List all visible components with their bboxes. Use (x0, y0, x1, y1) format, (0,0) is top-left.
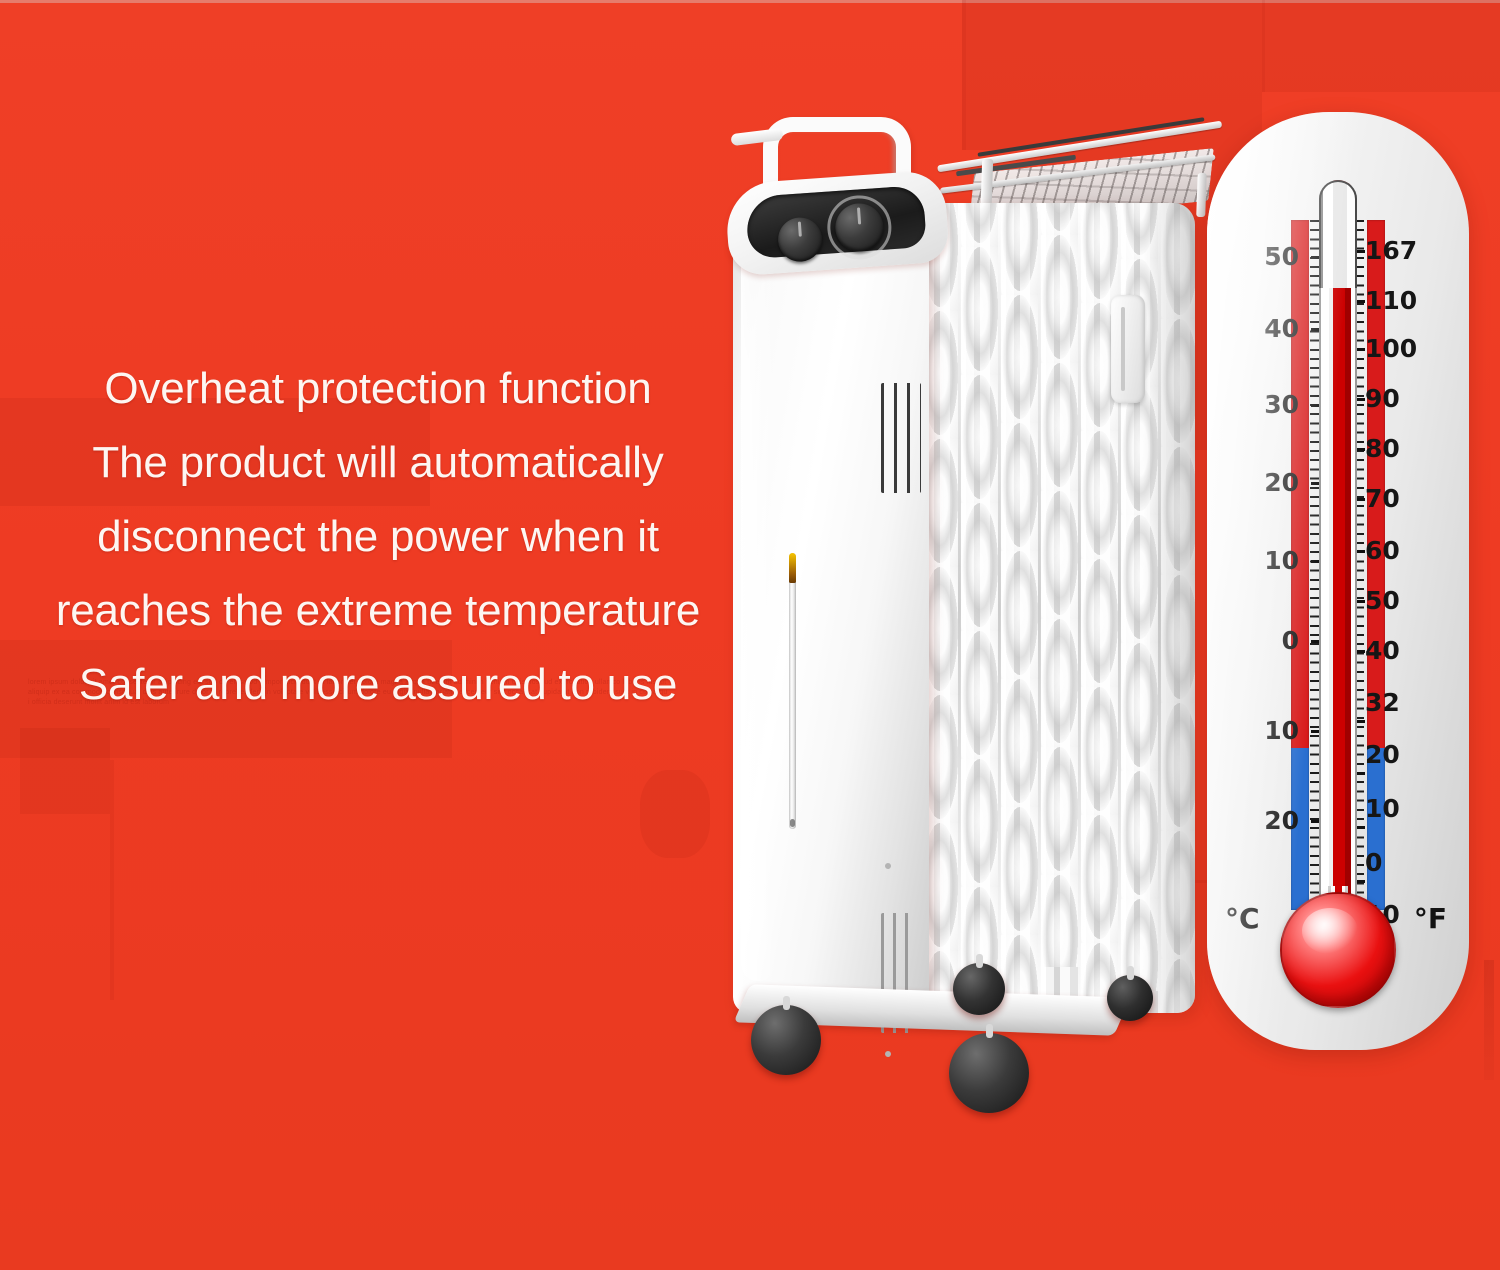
headline-line-2: The product will automatically (0, 426, 756, 500)
fahrenheit-label: 167 (1365, 238, 1439, 263)
caster-wheel (1107, 975, 1153, 1021)
wavy-oil-fin-stack (920, 203, 1195, 1013)
indicator-slot (789, 553, 796, 829)
fin-clip (1111, 295, 1145, 403)
bulb-highlight (1302, 908, 1358, 954)
fin-wave (960, 203, 1000, 979)
fin-seam (958, 203, 961, 1013)
headline-line-4: reaches the extreme temperature (0, 574, 756, 648)
control-deck (724, 169, 950, 276)
top-hairline (0, 0, 1500, 3)
bg-line (1262, 0, 1265, 92)
celsius-label: 10 (1239, 548, 1299, 573)
bg-blob (640, 770, 710, 858)
fahrenheit-label: 40 (1365, 638, 1439, 663)
headline-copy: Overheat protection function The product… (0, 352, 756, 722)
caster-wheel (949, 1033, 1029, 1113)
thermometer-scale-area: 50 40 30 20 10 0 10 20 167 110 100 (1207, 220, 1469, 910)
fahrenheit-label: 110 (1365, 288, 1439, 313)
capillary-tube (1319, 180, 1357, 950)
fin-shading (1143, 203, 1195, 1013)
celsius-label: 40 (1239, 316, 1299, 341)
fahrenheit-unit-label: °F (1414, 902, 1447, 935)
screw (885, 863, 891, 869)
fin-seam (1038, 203, 1041, 1013)
fin-seam (1078, 203, 1081, 1013)
fahrenheit-label: 10 (1365, 796, 1439, 821)
dual-scale-wall-thermometer: 50 40 30 20 10 0 10 20 167 110 100 (1207, 112, 1469, 1050)
fahrenheit-label: 50 (1365, 588, 1439, 613)
headline-line-1: Overheat protection function (0, 352, 756, 426)
control-recess (745, 185, 927, 259)
fahrenheit-label: 70 (1365, 486, 1439, 511)
vent-slits (881, 383, 921, 493)
headline-line-5: Safer and more assured to use (0, 648, 756, 722)
thermometer-bulb (1280, 892, 1396, 1008)
oil-filled-radiator-heater (715, 95, 1235, 1105)
celsius-label: 20 (1239, 808, 1299, 833)
fahrenheit-label: 100 (1365, 336, 1439, 361)
headline-line-3: disconnect the power when it (0, 500, 756, 574)
edge-watermark (1484, 960, 1494, 1080)
fahrenheit-label: 20 (1365, 742, 1439, 767)
celsius-label: 0 (1239, 628, 1299, 653)
fin-wave (1040, 203, 1080, 967)
fahrenheit-label: 90 (1365, 386, 1439, 411)
bg-panel (1262, 0, 1500, 92)
fin-wave (1000, 203, 1040, 1013)
caster-wheel (953, 963, 1005, 1015)
bg-line (110, 760, 114, 1000)
celsius-unit-label: °C (1225, 902, 1260, 935)
celsius-label: 30 (1239, 392, 1299, 417)
celsius-label: 50 (1239, 244, 1299, 269)
bg-panel (20, 728, 110, 814)
fahrenheit-label: 0 (1365, 850, 1439, 875)
fahrenheit-label: 32 (1365, 690, 1439, 715)
thermostat-knob[interactable] (777, 216, 824, 263)
rack-rod (978, 117, 1205, 157)
celsius-label: 10 (1239, 718, 1299, 743)
rack-post (981, 159, 994, 207)
caster-wheel (751, 1005, 821, 1075)
rack-post (1196, 173, 1207, 217)
celsius-label: 20 (1239, 470, 1299, 495)
fin-seam (998, 203, 1001, 1013)
fahrenheit-label: 60 (1365, 538, 1439, 563)
heater-front-body (733, 223, 929, 1013)
promo-banner: lorem ipsum dolor sit amet consectetur a… (0, 0, 1500, 1270)
fahrenheit-label: 80 (1365, 436, 1439, 461)
power-indicator-lamp (789, 553, 796, 583)
capillary-tube-top (1319, 180, 1357, 288)
screw (885, 1051, 891, 1057)
